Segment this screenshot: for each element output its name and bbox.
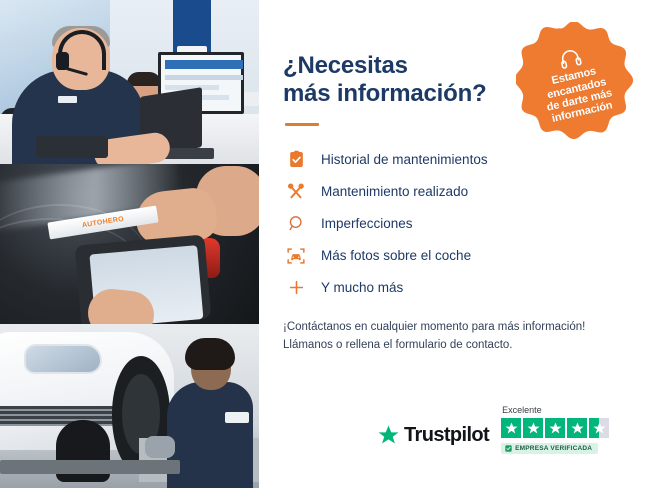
headset-icon bbox=[556, 47, 583, 72]
trustpilot-rating-label: Excelente bbox=[502, 405, 542, 415]
contact-text: ¡Contáctanos en cualquier momento para m… bbox=[283, 318, 628, 355]
feature-label: Más fotos sobre el coche bbox=[321, 248, 471, 263]
trustpilot-star-icon bbox=[377, 424, 400, 447]
plus-icon bbox=[283, 275, 309, 301]
magnifier-icon bbox=[283, 211, 309, 237]
verified-company-badge: EMPRESA VERIFICADA bbox=[501, 443, 598, 454]
feature-label: Mantenimiento realizado bbox=[321, 184, 468, 199]
page-title-line-2: más información? bbox=[283, 80, 487, 107]
trustpilot-rating[interactable]: Trustpilot Excelente bbox=[377, 405, 609, 454]
crossed-tools-icon bbox=[283, 179, 309, 205]
car-headlight bbox=[24, 344, 102, 374]
feature-list: Historial de mantenimientos Mantenimient… bbox=[283, 144, 628, 304]
ruler-brand-part-2: HERO bbox=[102, 216, 124, 226]
promo-poster: AUTOHERO ¿Necesitas más información? bbox=[0, 0, 650, 488]
agent-two-hair bbox=[127, 72, 161, 86]
star-filled bbox=[567, 418, 587, 438]
contact-line-1: ¡Contáctanos en cualquier momento para m… bbox=[283, 321, 585, 333]
support-badge-text: Estamos encantados de darte más informac… bbox=[540, 63, 616, 126]
mechanic-logo-patch bbox=[225, 412, 249, 423]
feature-label: Historial de mantenimientos bbox=[321, 152, 488, 167]
star-filled bbox=[545, 418, 565, 438]
desk-tablet bbox=[36, 136, 108, 158]
call-center-agents-photo bbox=[0, 0, 259, 164]
clipboard-check-icon bbox=[283, 147, 309, 173]
vehicle-inspection-photo: AUTOHERO bbox=[0, 164, 259, 324]
mechanic-hair bbox=[185, 338, 235, 370]
car-photo-frame-icon bbox=[283, 243, 309, 269]
star-filled bbox=[501, 418, 521, 438]
verified-label: EMPRESA VERIFICADA bbox=[515, 445, 592, 452]
trustpilot-logo: Trustpilot bbox=[377, 424, 489, 454]
page-title: ¿Necesitas más información? bbox=[283, 52, 523, 109]
mechanic-glove bbox=[145, 436, 175, 458]
verified-check-icon bbox=[505, 445, 512, 452]
mechanic-workshop-photo bbox=[0, 324, 259, 488]
feature-label: Imperfecciones bbox=[321, 216, 413, 231]
agent-name-badge bbox=[58, 96, 77, 103]
monitor-row-2 bbox=[165, 75, 243, 80]
star-half bbox=[589, 418, 609, 438]
trustpilot-stars bbox=[501, 418, 609, 438]
trustpilot-wordmark: Trustpilot bbox=[404, 424, 489, 447]
title-underline-rule bbox=[285, 123, 319, 126]
support-badge: Estamos encantados de darte más informac… bbox=[516, 22, 634, 140]
monitor-row-1 bbox=[165, 60, 243, 69]
feature-item-much-more: Y mucho más bbox=[283, 272, 628, 304]
feature-item-maintenance-done: Mantenimiento realizado bbox=[283, 176, 628, 208]
page-title-line-1: ¿Necesitas bbox=[283, 52, 408, 79]
feature-item-more-photos: Más fotos sobre el coche bbox=[283, 240, 628, 272]
contact-line-2: Llámanos o rellena el formulario de cont… bbox=[283, 339, 513, 351]
car-lift-ramp bbox=[0, 460, 180, 474]
feature-item-imperfections: Imperfecciones bbox=[283, 208, 628, 240]
star-filled bbox=[523, 418, 543, 438]
content-panel: ¿Necesitas más información? Historial de… bbox=[259, 0, 650, 488]
ruler-brand: AUTOHERO bbox=[82, 216, 125, 230]
feature-item-maintenance-history: Historial de mantenimientos bbox=[283, 144, 628, 176]
trustpilot-score-block: Excelente bbox=[501, 405, 609, 454]
feature-label: Y mucho más bbox=[321, 280, 403, 295]
ruler-brand-part-1: AUTO bbox=[82, 219, 104, 229]
photo-column: AUTOHERO bbox=[0, 0, 259, 488]
